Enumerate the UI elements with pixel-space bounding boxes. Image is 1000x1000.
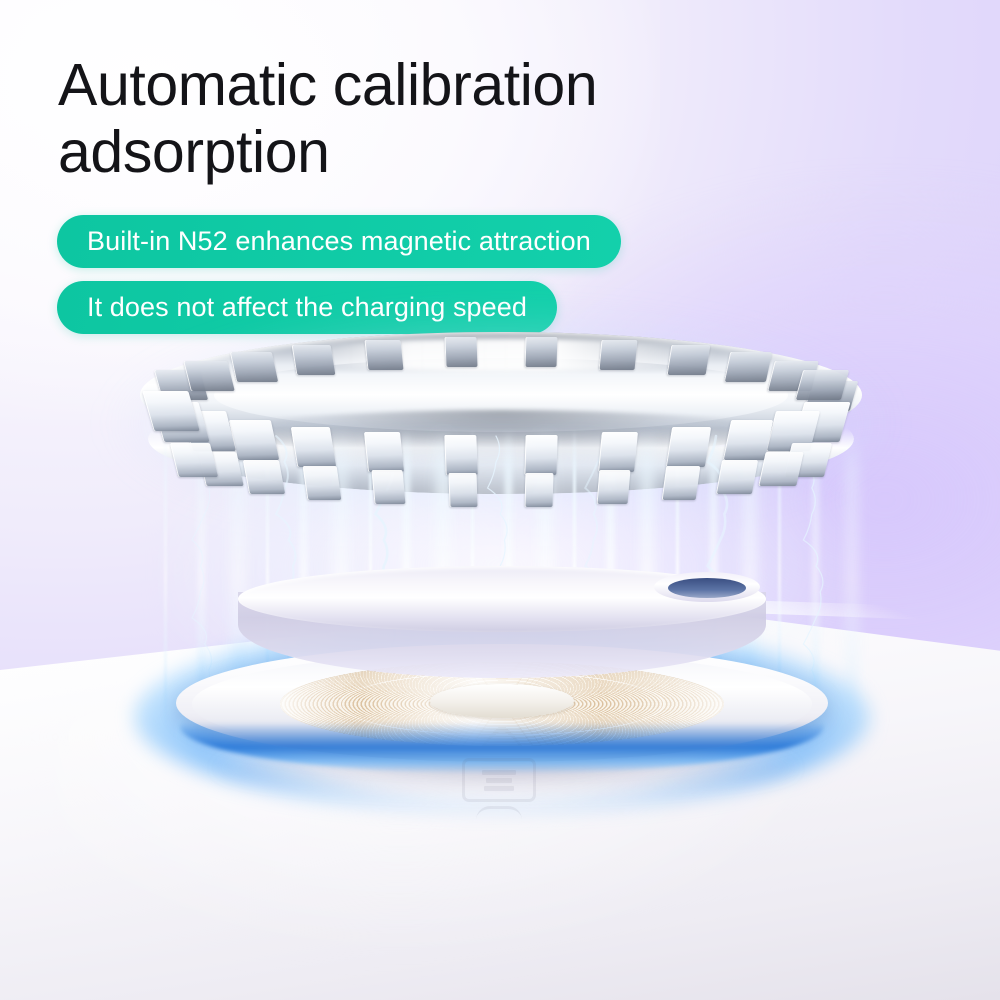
wireless-charger-pad [176, 566, 828, 762]
magnet-segment [599, 340, 638, 370]
magnet-segment [292, 345, 336, 375]
watermark-bar [482, 770, 516, 775]
headline-line-1: Automatic calibration [58, 52, 818, 119]
magnet-segment-lower [758, 452, 804, 486]
magnet-segment-lower [596, 470, 630, 504]
headline-line-2: adsorption [58, 119, 818, 186]
magnet-segment [445, 435, 478, 475]
magnet-segment [794, 370, 848, 400]
magnet-segment [230, 352, 278, 382]
magnet-ring-specular-highlight [290, 338, 720, 372]
magnet-segment-lower [661, 466, 700, 500]
magnet-ring-body [140, 332, 862, 492]
magnet-segment [666, 427, 711, 467]
magnet-segment [524, 435, 557, 475]
magnet-segment [445, 337, 478, 367]
magnet-segment [183, 361, 235, 391]
magnet-segment [724, 352, 772, 382]
magnet-segment [667, 345, 711, 375]
magnet-segment [364, 432, 404, 472]
watermark-arc [476, 806, 522, 820]
magnet-segment [524, 337, 557, 367]
magnet-segment [291, 427, 336, 467]
magnet-segment-lower [372, 470, 406, 504]
magnet-segment-lower [716, 460, 759, 494]
page-title: Automatic calibration adsorption [58, 52, 818, 185]
magnet-segment-lower [302, 466, 341, 500]
magnet-segment [598, 432, 638, 472]
charger-collar-notch-aperture [668, 578, 746, 598]
magnet-segment [365, 340, 404, 370]
product-banner: Automatic calibration adsorption Built-i… [0, 0, 1000, 1000]
watermark-bar [486, 778, 512, 783]
brand-watermark [462, 758, 536, 820]
magnet-segment-lower [525, 473, 554, 507]
watermark-badge [462, 758, 536, 802]
watermark-bar [484, 786, 514, 791]
feature-badge-magnetic: Built-in N52 enhances magnetic attractio… [57, 215, 621, 268]
magnet-segment-lower [243, 460, 286, 494]
magnet-segment-lower [449, 473, 478, 507]
magnet-ring [140, 332, 862, 492]
